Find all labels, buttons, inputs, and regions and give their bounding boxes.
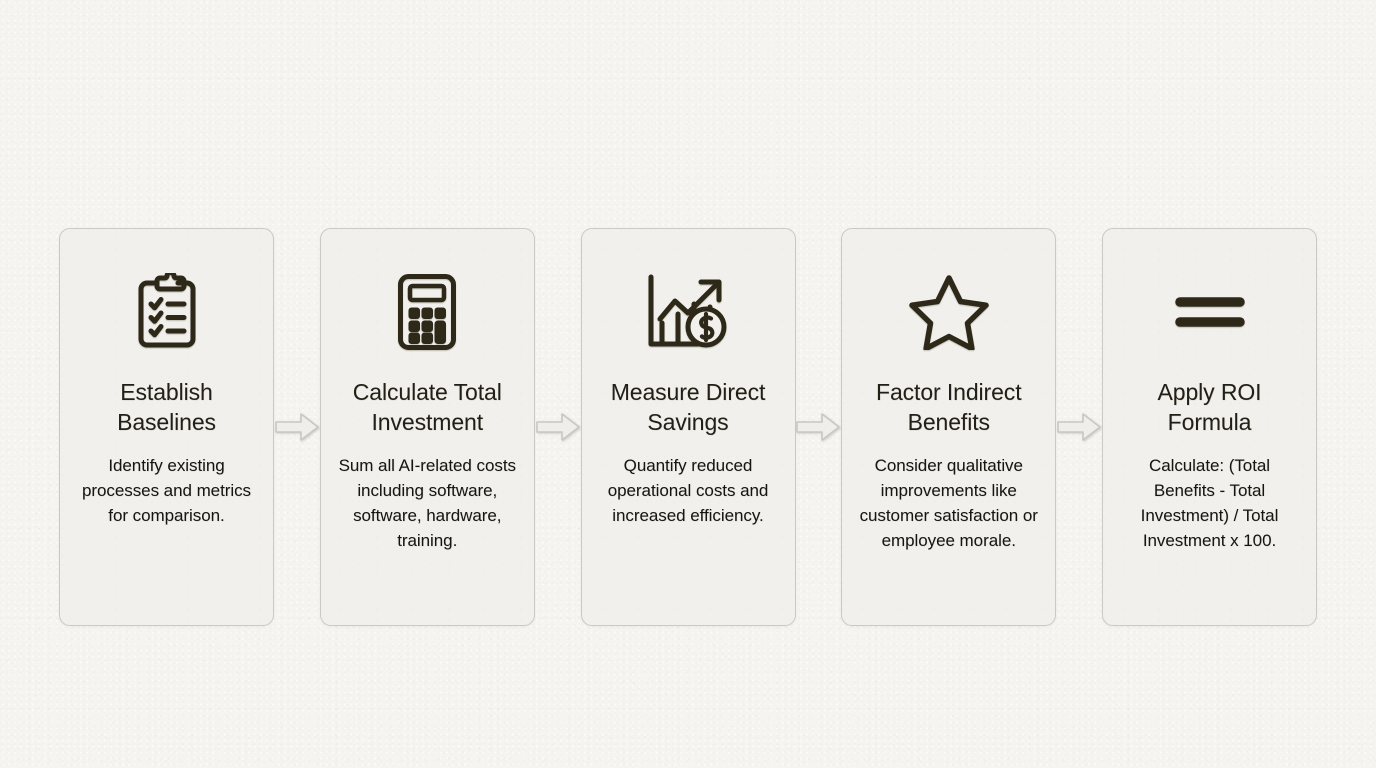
right-arrow-icon <box>275 411 319 443</box>
process-step-title: Establish Baselines <box>74 377 259 437</box>
process-step-title: Calculate Total Investment <box>335 377 520 437</box>
process-step-card-4[interactable]: Factor Indirect Benefits Consider qualit… <box>841 228 1056 626</box>
process-step-card-3[interactable]: Measure Direct Savings Quantify reduced … <box>581 228 796 626</box>
flow-connector-1 <box>274 228 320 626</box>
process-step-title: Measure Direct Savings <box>596 377 781 437</box>
clipboard-checklist-icon <box>134 273 200 351</box>
process-step-description: Calculate: (Total Benefits - Total Inves… <box>1117 453 1302 553</box>
process-step-description: Identify existing processes and metrics … <box>74 453 259 528</box>
process-step-description: Quantify reduced operational costs and i… <box>596 453 781 528</box>
process-flow-diagram: Establish Baselines Identify existing pr… <box>59 228 1317 626</box>
process-step-description: Sum all AI-related costs including softw… <box>335 453 520 553</box>
star-outline-icon <box>909 273 989 351</box>
process-step-title: Apply ROI Formula <box>1117 377 1302 437</box>
process-step-title: Factor Indirect Benefits <box>856 377 1041 437</box>
process-step-card-5[interactable]: Apply ROI Formula Calculate: (Total Bene… <box>1102 228 1317 626</box>
equals-sign-icon <box>1172 273 1248 351</box>
calculator-icon <box>396 273 458 351</box>
right-arrow-icon <box>796 411 840 443</box>
right-arrow-icon <box>536 411 580 443</box>
process-step-description: Consider qualitative improvements like c… <box>856 453 1041 553</box>
right-arrow-icon <box>1057 411 1101 443</box>
flow-connector-3 <box>796 228 842 626</box>
flow-connector-4 <box>1056 228 1102 626</box>
process-step-card-2[interactable]: Calculate Total Investment Sum all AI-re… <box>320 228 535 626</box>
flow-connector-2 <box>535 228 581 626</box>
process-step-card-1[interactable]: Establish Baselines Identify existing pr… <box>59 228 274 626</box>
bar-chart-growth-dollar-icon <box>644 273 732 351</box>
